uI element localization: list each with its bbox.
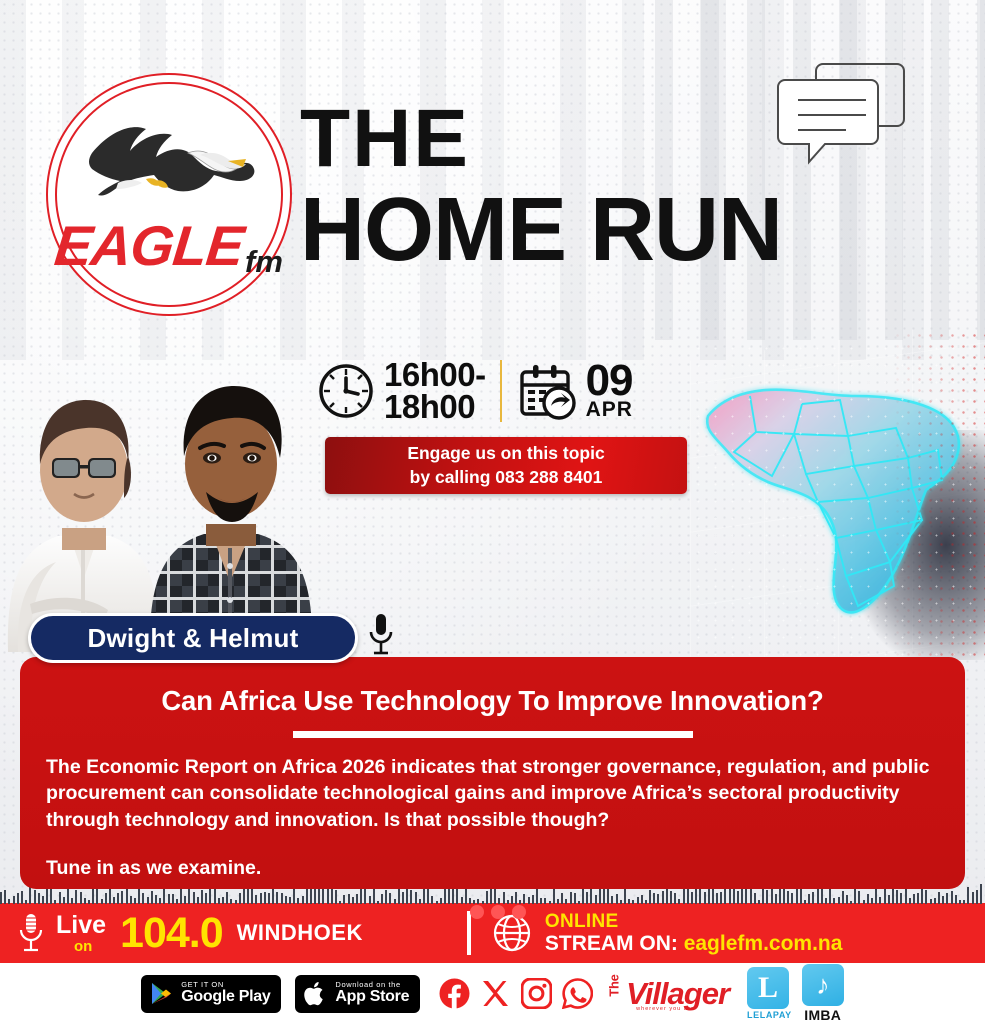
show-date-day: 09 <box>586 362 633 401</box>
waveform-bar <box>955 895 957 904</box>
waveform-bar <box>838 897 840 904</box>
eaglefm-logo: EAGLEfm <box>46 73 292 316</box>
waveform-bar <box>176 899 178 904</box>
waveform-bar <box>63 897 65 904</box>
waveform-bar <box>260 893 262 904</box>
waveform-bar <box>67 888 69 904</box>
waveform-bar <box>678 899 680 904</box>
stream-on-label: STREAM ON: <box>545 932 678 955</box>
waveform-bar <box>976 890 978 904</box>
waveform-bar <box>255 895 257 904</box>
waveform-bar <box>226 892 228 904</box>
whatsapp-icon[interactable] <box>562 978 593 1009</box>
waveform-bar <box>540 898 542 904</box>
live-labels: Live on <box>56 913 106 954</box>
schedule-row: 16h00- 18h00 09 APR <box>318 352 698 430</box>
waveform-bar <box>900 893 902 904</box>
waveform-bar <box>812 892 814 904</box>
waveform-bar <box>205 893 207 904</box>
waveform-bar <box>879 897 881 904</box>
engage-line2: by calling 083 288 8401 <box>410 466 603 490</box>
waveform-bar <box>951 891 953 904</box>
africa-map-graphic <box>690 348 985 648</box>
waveform-bar <box>172 894 174 904</box>
waveform-bar <box>461 897 463 904</box>
waveform-bar <box>867 894 869 904</box>
topic-body-wrap: The Economic Report on Africa 2026 indic… <box>46 754 939 881</box>
waveform-bar <box>498 898 500 904</box>
calendar-icon <box>518 362 576 420</box>
waveform-bar <box>243 888 245 904</box>
waveform-bar <box>235 900 237 904</box>
waveform-bar <box>25 900 27 904</box>
waveform-bar <box>607 889 609 904</box>
waveform-bar <box>766 890 768 904</box>
waveform-bar <box>415 892 417 904</box>
waveform-bar <box>972 892 974 904</box>
waveform-bar <box>440 898 442 904</box>
waveform-bar <box>833 898 835 904</box>
waveform-bar <box>142 893 144 904</box>
topic-body: The Economic Report on Africa 2026 indic… <box>46 754 939 833</box>
waveform-bar <box>959 900 961 904</box>
waveform-bar <box>385 890 387 904</box>
waveform-bar <box>620 900 622 904</box>
app-store-text: Download on the App Store <box>335 981 409 1006</box>
waveform-bar <box>126 888 128 904</box>
waveform-bar <box>532 895 534 904</box>
engage-line1: Engage us on this topic <box>407 442 604 466</box>
lelapay-logo: L LELAPAY <box>747 967 792 1020</box>
waveform-bar <box>218 898 220 904</box>
waveform-bar <box>209 887 211 904</box>
waveform-bar <box>117 893 119 904</box>
stream-group[interactable]: ONLINE STREAM ON: eaglefm.com.na <box>545 911 843 956</box>
topic-panel: Can Africa Use Technology To Improve Inn… <box>20 657 965 889</box>
waveform-bar <box>59 892 61 904</box>
waveform-bar <box>846 895 848 904</box>
waveform-bar <box>628 899 630 904</box>
waveform-bar <box>503 892 505 904</box>
waveform-bar <box>105 893 107 904</box>
waveform-bar <box>808 894 810 904</box>
show-date-month: APR <box>586 401 633 419</box>
waveform-bar <box>582 887 584 904</box>
waveform-bar <box>670 891 672 904</box>
waveform-bar <box>674 893 676 904</box>
waveform-bar <box>394 899 396 904</box>
waveform-bar <box>523 894 525 904</box>
lelapay-label: LELAPAY <box>747 1010 792 1020</box>
waveform-bar <box>850 901 852 904</box>
waveform-bar <box>42 896 44 904</box>
waveform-bar <box>331 889 333 904</box>
google-play-icon <box>149 981 174 1006</box>
waveform-bar <box>561 893 563 904</box>
waveform-bar <box>511 896 513 904</box>
waveform-bar <box>821 888 823 904</box>
waveform-bar <box>641 895 643 904</box>
waveform-bar <box>590 887 592 904</box>
waveform-bar <box>268 893 270 904</box>
waveform-bar <box>519 900 521 904</box>
google-play-text: GET IT ON Google Play <box>181 981 270 1006</box>
waveform-bar <box>980 884 982 904</box>
topic-divider <box>293 731 693 738</box>
app-store-badge[interactable]: Download on the App Store <box>295 975 420 1013</box>
waveform-bar <box>71 898 73 904</box>
waveform-bar <box>632 900 634 904</box>
waveform-bar <box>486 891 488 904</box>
waveform-bar <box>930 899 932 904</box>
waveform-bar <box>297 898 299 904</box>
waveform-bar <box>302 896 304 904</box>
on-label: on <box>74 939 106 954</box>
lelapay-mark: L <box>747 967 789 1009</box>
waveform-bar <box>934 898 936 904</box>
stream-url[interactable]: eaglefm.com.na <box>684 932 843 955</box>
footer-bar: GET IT ON Google Play Download on the Ap… <box>0 963 985 1024</box>
waveform-bar <box>8 899 10 904</box>
waveform-bar <box>758 900 760 904</box>
topic-headline: Can Africa Use Technology To Improve Inn… <box>44 685 941 717</box>
waveform-bar <box>147 897 149 904</box>
waveform-bar <box>389 893 391 904</box>
waveform-bar <box>381 894 383 904</box>
poster-canvas: EAGLEfm THE HOME RUN <box>0 0 985 1024</box>
waveform-bar <box>917 893 919 904</box>
waveform-bar <box>557 899 559 904</box>
waveform-bar <box>469 898 471 904</box>
waveform-bar <box>507 900 509 904</box>
waveform-bar <box>565 899 567 904</box>
waveform-bar <box>842 891 844 904</box>
waveform-bar <box>369 896 371 904</box>
microphone-icon <box>366 612 396 658</box>
google-play-badge[interactable]: GET IT ON Google Play <box>141 975 281 1013</box>
apple-icon <box>303 981 328 1006</box>
waveform-bar <box>134 898 136 904</box>
waveform-bar <box>431 896 433 904</box>
logo-wordmark-eagle: EAGLE <box>52 213 247 278</box>
app-store-big: App Store <box>335 989 409 1006</box>
waveform-bar <box>896 890 898 904</box>
waveform-bar <box>724 888 726 904</box>
waveform-bar <box>938 892 940 904</box>
waveform-bar <box>603 887 605 904</box>
waveform-bar <box>335 890 337 904</box>
waveform-bar <box>716 893 718 904</box>
logo-wordmark: EAGLEfm <box>46 213 292 278</box>
waveform-bar <box>549 901 551 904</box>
waveform-bar <box>875 889 877 904</box>
waveform-bar <box>967 887 969 904</box>
waveform-bar <box>616 894 618 904</box>
waveform-bar <box>611 896 613 904</box>
live-label: Live <box>56 913 106 938</box>
waveform-bar <box>544 898 546 904</box>
waveform-bar <box>662 891 664 904</box>
hosts-photo <box>0 352 345 652</box>
villager-tagline: wherever you are <box>636 1006 695 1012</box>
waveform-bar <box>201 890 203 904</box>
schedule-divider <box>500 360 502 422</box>
show-time: 16h00- 18h00 <box>384 359 486 423</box>
waveform-bar <box>436 901 438 904</box>
google-play-big: Google Play <box>181 989 270 1006</box>
bar-dot-decor <box>470 905 526 919</box>
waveform-bar <box>888 895 890 904</box>
city-label: WINDHOEK <box>237 920 363 946</box>
villager-the: The <box>607 974 622 996</box>
waveform-bar <box>364 887 366 904</box>
waveform-bar <box>264 892 266 904</box>
waveform-bar <box>745 889 747 904</box>
waveform-bar <box>230 899 232 904</box>
waveform-bar <box>113 897 115 904</box>
villager-logo: The Villager wherever you are <box>612 976 729 1012</box>
waveform-bar <box>871 898 873 904</box>
waveform-bar <box>787 891 789 904</box>
waveform-bar <box>222 897 224 904</box>
instagram-icon[interactable] <box>521 978 552 1009</box>
waveform-bar <box>155 895 157 904</box>
microphone-small-icon <box>18 912 44 954</box>
eagle-icon <box>80 117 260 225</box>
waveform-bar <box>448 888 450 904</box>
waveform-bar <box>800 887 802 904</box>
waveform-bar <box>130 896 132 904</box>
waveform-bar <box>34 890 36 904</box>
waveform-bar <box>775 894 777 904</box>
waveform-bar <box>348 894 350 904</box>
waveform-bar <box>699 888 701 904</box>
waveform-bar <box>293 887 295 904</box>
waveform-bar <box>649 890 651 904</box>
waveform-bar <box>737 891 739 904</box>
waveform-bar <box>377 901 379 904</box>
waveform-bar <box>289 897 291 904</box>
waveform-bar <box>197 897 199 904</box>
waveform-bar <box>754 893 756 904</box>
waveform-bar <box>884 887 886 904</box>
waveform-bar <box>4 890 6 904</box>
waveform-bar <box>17 893 19 904</box>
waveform-bar <box>75 890 77 904</box>
globe-icon <box>493 914 531 952</box>
imba-mark: ♪ <box>802 964 844 1006</box>
waveform-bar <box>54 900 56 904</box>
show-title-line2: HOME RUN <box>300 187 920 273</box>
waveform-bar <box>402 892 404 904</box>
online-label: ONLINE <box>545 911 843 932</box>
waveform-bar <box>214 889 216 904</box>
waveform-bar <box>239 893 241 904</box>
imba-label: IMBA <box>802 1007 844 1023</box>
waveform-bar <box>553 889 555 904</box>
waveform-bar <box>779 887 781 904</box>
waveform-bar <box>691 892 693 904</box>
waveform-bar <box>356 894 358 904</box>
waveform-bar <box>38 893 40 904</box>
waveform-bar <box>473 900 475 904</box>
show-date: 09 APR <box>586 362 633 419</box>
waveform-bar <box>327 887 329 904</box>
waveform-bar <box>791 893 793 904</box>
waveform-bar <box>913 894 915 904</box>
live-group: Live on 104.0 WINDHOEK <box>18 909 363 958</box>
waveform-bar <box>80 892 82 904</box>
waveform-bar <box>410 890 412 904</box>
logo-wordmark-fm: fm <box>245 244 283 280</box>
waveform-bar <box>963 900 965 904</box>
waveform-bar <box>570 892 572 904</box>
waveform-bar <box>360 888 362 904</box>
imba-logo: ♪ IMBA <box>802 964 844 1023</box>
waveform-bar <box>595 895 597 904</box>
waveform-bar <box>101 899 103 904</box>
waveform-bar <box>50 889 52 904</box>
waveform-bar <box>452 888 454 904</box>
waveform-bar <box>528 897 530 904</box>
frequency-value: 104.0 <box>120 909 223 958</box>
waveform-bar <box>586 892 588 904</box>
waveform-bar <box>159 898 161 904</box>
waveform-bar <box>339 901 341 904</box>
waveform-bar <box>946 893 948 904</box>
waveform-bar <box>515 892 517 904</box>
waveform-bar <box>909 898 911 904</box>
waveform-bar <box>863 900 865 904</box>
waveform-bar <box>88 900 90 904</box>
host-names: Dwight & Helmut <box>88 623 299 654</box>
waveform-bar <box>574 893 576 904</box>
x-icon[interactable] <box>480 978 511 1009</box>
waveform-bar <box>925 890 927 904</box>
waveform-bar <box>168 894 170 904</box>
waveform-bar <box>825 898 827 904</box>
waveform-bar <box>285 896 287 904</box>
stream-line: STREAM ON: eaglefm.com.na <box>545 932 843 956</box>
waveform-bar <box>653 893 655 904</box>
waveform-bar <box>477 899 479 904</box>
waveform-bar <box>942 896 944 904</box>
waveform-bar <box>21 891 23 904</box>
waveform-bar <box>13 896 15 904</box>
waveform-bar <box>343 895 345 904</box>
topic-tune-in: Tune in as we examine. <box>46 855 939 881</box>
waveform-bar <box>578 901 580 904</box>
waveform-bar <box>184 896 186 904</box>
waveform-bar <box>276 892 278 904</box>
waveform-bar <box>720 892 722 904</box>
waveform-bar <box>687 888 689 904</box>
waveform-bar <box>704 892 706 904</box>
waveform-bar <box>84 898 86 904</box>
waveform-bar <box>637 897 639 904</box>
waveform-bar <box>444 888 446 904</box>
facebook-icon[interactable] <box>439 978 470 1009</box>
waveform-bar <box>193 892 195 904</box>
waveform-bar <box>0 892 2 904</box>
engage-callout[interactable]: Engage us on this topic by calling 083 2… <box>325 437 687 494</box>
chat-bubble-icon <box>770 58 910 178</box>
waveform-bar <box>352 897 354 904</box>
waveform-bar <box>804 900 806 904</box>
waveform-bar <box>121 891 123 904</box>
waveform-bar <box>829 888 831 904</box>
host-name-badge: Dwight & Helmut <box>28 613 358 663</box>
waveform-bar <box>771 889 773 904</box>
waveform-bar <box>151 891 153 904</box>
waveform-bar <box>645 900 647 904</box>
waveform-bar <box>657 894 659 904</box>
waveform-bar <box>247 889 249 904</box>
waveform-bar <box>281 893 283 904</box>
waveform-bar <box>419 899 421 904</box>
waveform-bar <box>858 891 860 904</box>
waveform-bar <box>482 901 484 904</box>
